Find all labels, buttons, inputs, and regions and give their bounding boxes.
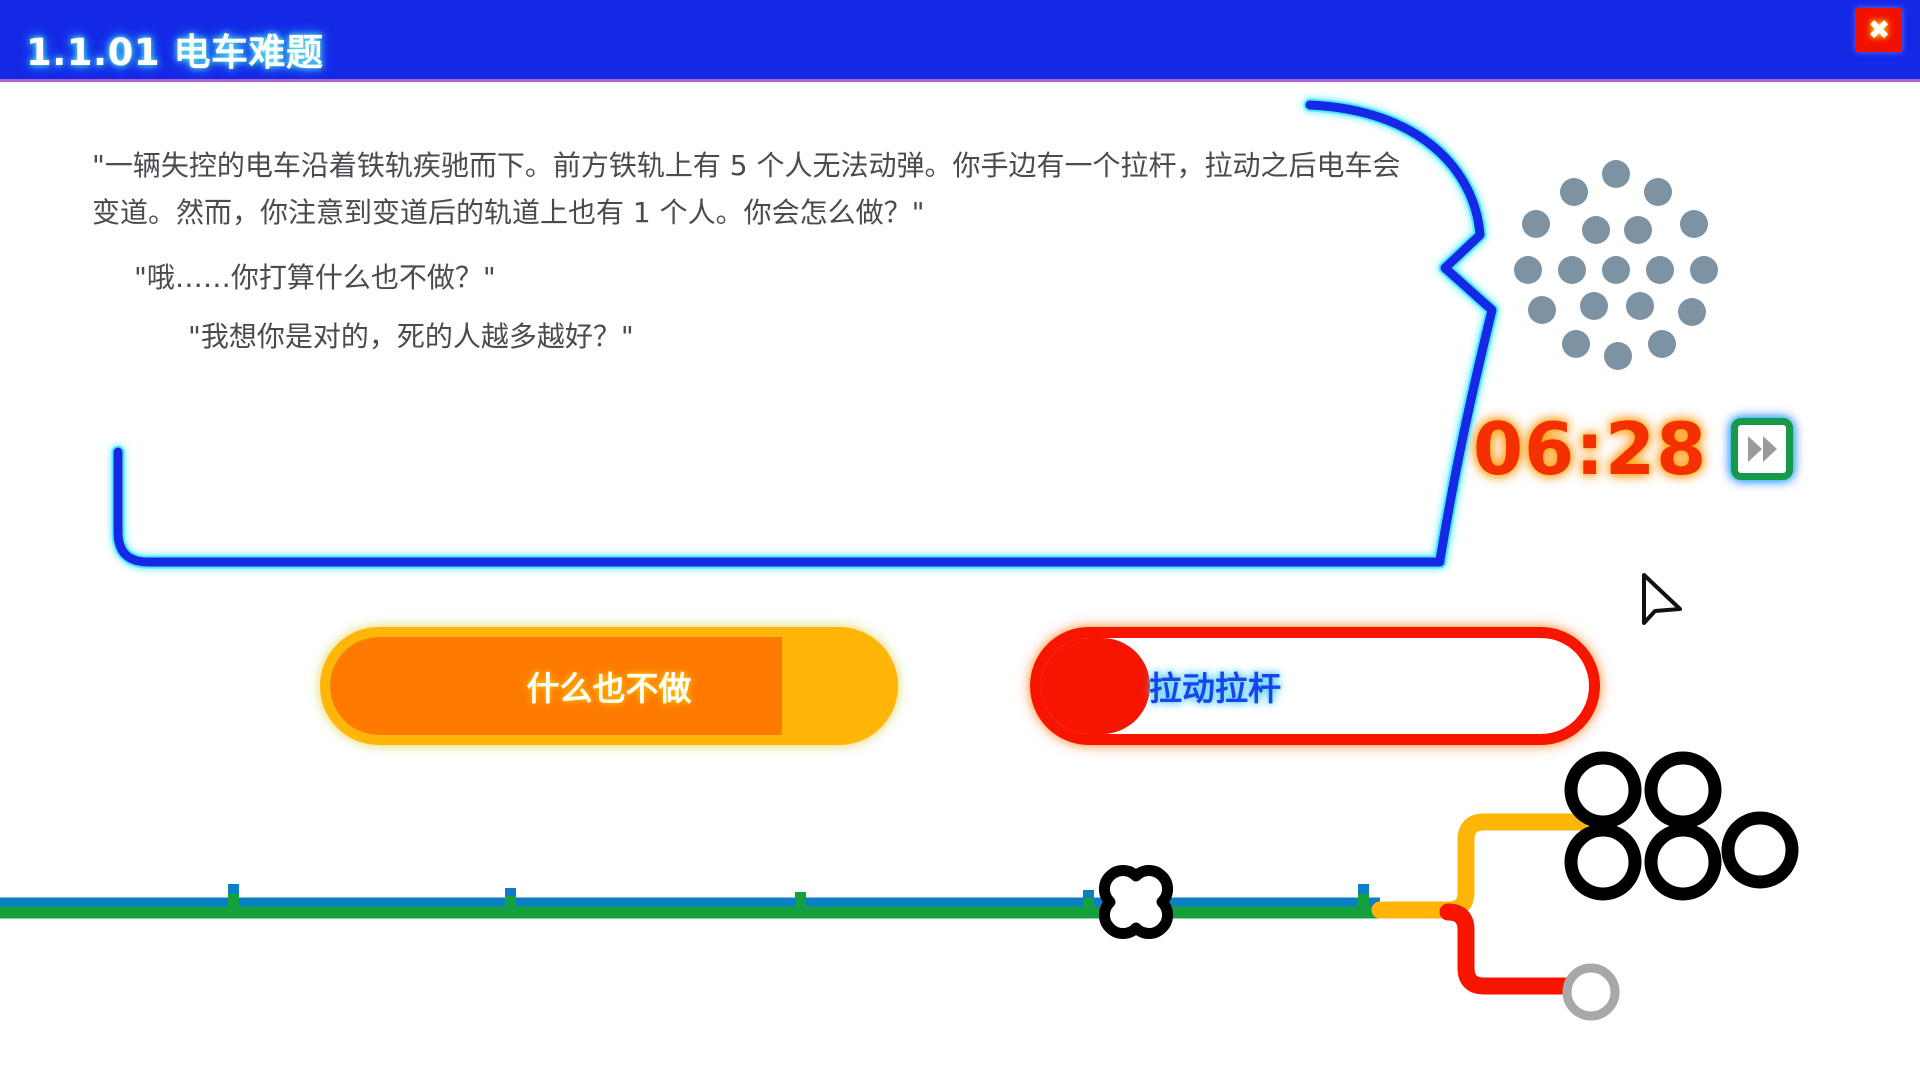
main-track: [0, 884, 1380, 910]
narration-text: "一辆失控的电车沿着铁轨疾驰而下。前方铁轨上有 5 个人无法动弹。你手边有一个拉…: [92, 142, 1402, 360]
crowd-dot: [1602, 256, 1630, 284]
lower-branch-victim: [1567, 968, 1615, 1016]
crowd-dot: [1558, 256, 1586, 284]
crowd-dot: [1562, 330, 1590, 358]
fast-forward-icon: [1748, 436, 1762, 462]
crowd-dot: [1580, 292, 1608, 320]
narration-line-1: "一辆失控的电车沿着铁轨疾驰而下。前方铁轨上有 5 个人无法动弹。你手边有一个拉…: [92, 142, 1402, 236]
crowd-dot: [1680, 210, 1708, 238]
crowd-dot: [1514, 256, 1542, 284]
page-title: 1.1.01 电车难题: [26, 22, 323, 76]
crowd-dot: [1528, 296, 1556, 324]
mouse-pointer-icon: [1640, 573, 1688, 631]
crowd-dot: [1560, 178, 1588, 206]
crowd-dot: [1690, 256, 1718, 284]
crowd-dot: [1648, 330, 1676, 358]
timer-row: 06:28: [1473, 413, 1793, 485]
choice-pull-lever-button[interactable]: 拉动拉杆: [1030, 627, 1600, 745]
upper-branch-track: [1380, 822, 1580, 910]
crowd-dot: [1602, 160, 1630, 188]
lower-branch-track: [1448, 912, 1580, 986]
choice-vote-fill: [1040, 638, 1150, 734]
skip-button[interactable]: [1731, 418, 1793, 480]
choice-do-nothing-button[interactable]: 什么也不做: [320, 627, 898, 745]
crowd-dot: [1522, 210, 1550, 238]
close-button[interactable]: ✖: [1856, 8, 1902, 52]
countdown-timer: 06:28: [1473, 413, 1707, 485]
choice-do-nothing-label: 什么也不做: [330, 662, 888, 710]
trolley-x-icon: [1104, 870, 1167, 933]
narration-line-3: "我想你是对的，死的人越多越好？": [188, 313, 1402, 360]
crowd-dot: [1646, 256, 1674, 284]
game-screen: 1.1.01 电车难题 ✖ "一辆失控的电车沿着铁轨疾驰而下。前方铁轨上有 5 …: [0, 0, 1920, 1080]
upper-branch-victims: [1571, 758, 1792, 894]
fast-forward-icon-second: [1763, 436, 1777, 462]
window-titlebar: 1.1.01 电车难题 ✖: [0, 0, 1920, 82]
crowd-dot: [1644, 178, 1672, 206]
crowd-dot: [1678, 298, 1706, 326]
choice-pull-lever-label: 拉动拉杆: [1149, 662, 1281, 710]
narration-line-2: "哦……你打算什么也不做？": [134, 254, 1402, 301]
crowd-dot: [1582, 216, 1610, 244]
crowd-dot: [1604, 342, 1632, 370]
crowd-dot: [1624, 216, 1652, 244]
crowd-dots-icon: [1520, 160, 1740, 380]
crowd-dot: [1626, 292, 1654, 320]
close-icon: ✖: [1856, 8, 1902, 52]
